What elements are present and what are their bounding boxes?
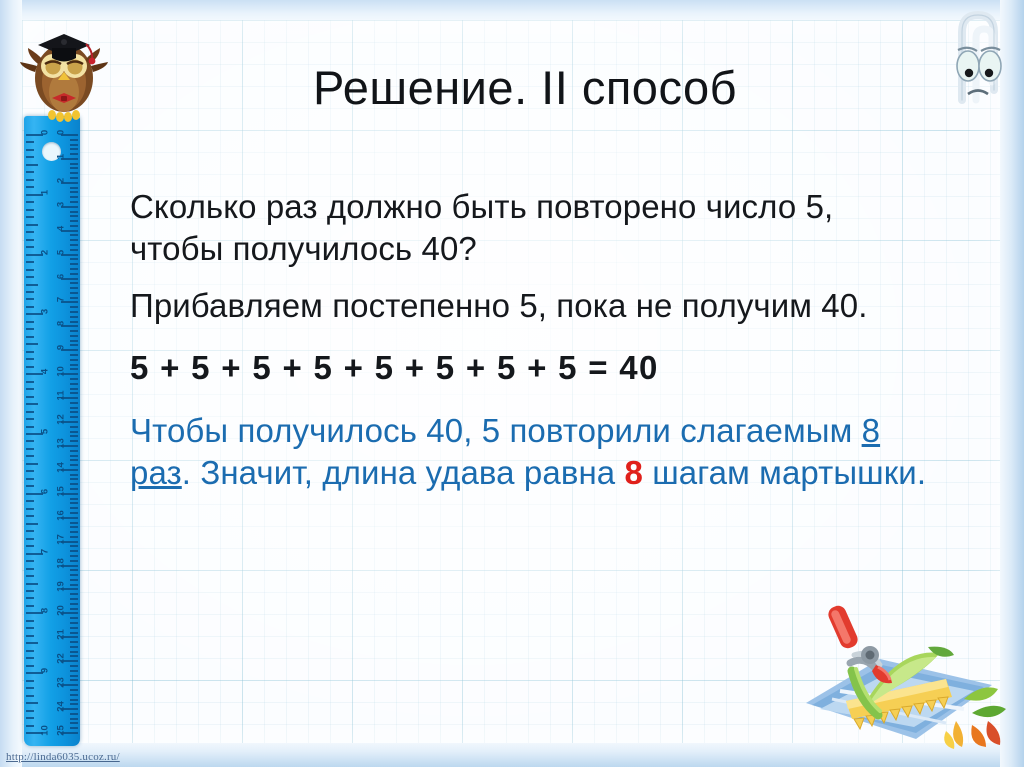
frame-edge-top: [0, 0, 1024, 22]
ruler-inch-subtick: [26, 440, 34, 442]
ruler-cm-subtick: [70, 263, 78, 265]
ruler-inch-label: 3: [40, 303, 51, 321]
ruler-inch-subtick: [26, 717, 34, 719]
ruler-cm-subtick: [70, 641, 78, 643]
ruler-inch-subtick: [26, 702, 38, 704]
ruler-inch-scale: 012345678910: [24, 116, 50, 746]
ruler-inch-subtick: [26, 179, 34, 181]
ruler-inch-subtick: [26, 381, 34, 383]
ruler-cm-subtick: [70, 172, 78, 174]
ruler-inch-subtick: [26, 418, 34, 420]
ruler-inch-subtick: [26, 620, 34, 622]
ruler-cm-subtick: [70, 584, 78, 586]
ruler-inch-subtick: [26, 321, 34, 323]
ruler-cm-subtick: [70, 536, 78, 538]
ruler-cm-subtick: [70, 368, 78, 370]
conclusion-lead: Чтобы получилось 40, 5 повторили слагаем…: [130, 412, 862, 449]
ruler-inch-subtick: [26, 523, 38, 525]
ruler-cm-subtick: [70, 273, 78, 275]
ruler-cm-subtick: [70, 502, 78, 504]
ruler-cm-label: 11: [56, 387, 67, 405]
ruler-inch-subtick: [26, 597, 34, 599]
conclusion-middle: . Значит, длина удава равна: [182, 454, 625, 491]
ruler-cm-subtick: [70, 531, 78, 533]
ruler-inch-subtick: [26, 725, 34, 727]
ruler-cm-label: 6: [56, 267, 67, 285]
ruler-cm-subtick: [70, 225, 78, 227]
ruler-cm-subtick: [70, 431, 78, 433]
ruler-inch-subtick: [26, 680, 34, 682]
ruler-cm-subtick: [70, 282, 78, 284]
ruler-inch-subtick: [26, 687, 34, 689]
ruler-cm-label: 8: [56, 315, 67, 333]
ruler-inch-label: 5: [40, 423, 51, 441]
ruler-cm-label: 10: [56, 363, 67, 381]
ruler-cm-subtick: [70, 211, 78, 213]
ruler-inch-subtick: [26, 231, 34, 233]
ruler-cm-label: 0: [56, 124, 67, 142]
ruler-cm-subtick: [70, 144, 78, 146]
ruler-inch-subtick: [26, 358, 34, 360]
ruler-inch-subtick: [26, 149, 34, 151]
ruler-cm-subtick: [70, 148, 78, 150]
ruler-inch-subtick: [26, 695, 34, 697]
ruler-cm-label: 1: [56, 147, 67, 165]
ruler-cm-subtick: [70, 306, 78, 308]
ruler-cm-subtick: [70, 316, 78, 318]
ruler-inch-subtick: [26, 171, 34, 173]
ruler-cm-subtick: [70, 632, 78, 634]
ruler-cm-subtick: [70, 483, 78, 485]
ruler-cm-subtick: [70, 196, 78, 198]
ruler-cm-subtick: [70, 426, 78, 428]
ruler-cm-subtick: [70, 603, 78, 605]
ruler-inch-subtick: [26, 141, 34, 143]
ruler-cm-subtick: [70, 699, 78, 701]
ruler-inch-subtick: [26, 508, 34, 510]
ruler-cm-subtick: [70, 512, 78, 514]
ruler-cm-subtick: [70, 450, 78, 452]
ruler-cm-subtick: [70, 392, 78, 394]
ruler-cm-subtick: [70, 579, 78, 581]
ruler-cm-subtick: [70, 287, 78, 289]
ruler-cm-subtick: [70, 617, 78, 619]
ruler-inch-subtick: [26, 590, 34, 592]
ruler-inch-subtick: [26, 201, 34, 203]
body-text-block: Сколько раз должно быть повторено число …: [130, 186, 930, 509]
ruler-inch-subtick: [26, 583, 38, 585]
conclusion-tail: шагам мартышки.: [643, 454, 926, 491]
ruler-inch-subtick: [26, 575, 34, 577]
ruler-cm-subtick: [70, 191, 78, 193]
ruler-inch-subtick: [26, 665, 34, 667]
ruler-inch-subtick: [26, 216, 34, 218]
ruler-inch-subtick: [26, 426, 34, 428]
ruler-cm-subtick: [70, 550, 78, 552]
ruler-inch-label: 9: [40, 662, 51, 680]
ruler-cm-subtick: [70, 522, 78, 524]
ruler-cm-subtick: [70, 359, 78, 361]
ruler-cm-subtick: [70, 249, 78, 251]
paragraph-question: Сколько раз должно быть повторено число …: [130, 186, 930, 269]
ruler-cm-label: 4: [56, 219, 67, 237]
ruler-inch-subtick: [26, 463, 38, 465]
ruler-cm-subtick: [70, 718, 78, 720]
ruler-cm-subtick: [70, 651, 78, 653]
ruler-cm-subtick: [70, 388, 78, 390]
ruler-cm-subtick: [70, 292, 78, 294]
ruler-cm-subtick: [70, 655, 78, 657]
ruler-inch-subtick: [26, 411, 34, 413]
ruler-illustration: 012345678910 012345678910111213141516171…: [24, 116, 80, 746]
ruler-cm-subtick: [70, 416, 78, 418]
ruler-cm-subtick: [70, 646, 78, 648]
ruler-cm-subtick: [70, 574, 78, 576]
ruler-cm-subtick: [70, 344, 78, 346]
ruler-cm-label: 24: [56, 698, 67, 716]
slide-canvas: Решение. II способ Сколько раз должно бы…: [0, 0, 1024, 767]
ruler-cm-subtick: [70, 335, 78, 337]
ruler-inch-subtick: [26, 351, 34, 353]
ruler-inch-subtick: [26, 448, 34, 450]
ruler-cm-subtick: [70, 703, 78, 705]
ruler-cm-subtick: [70, 177, 78, 179]
ruler-cm-subtick: [70, 455, 78, 457]
ruler-cm-subtick: [70, 220, 78, 222]
ruler-cm-subtick: [70, 215, 78, 217]
ruler-cm-subtick: [70, 321, 78, 323]
ruler-inch-subtick: [26, 657, 34, 659]
ruler-inch-subtick: [26, 650, 34, 652]
ruler-cm-subtick: [70, 340, 78, 342]
ruler-inch-label: 8: [40, 602, 51, 620]
ruler-inch-subtick: [26, 336, 34, 338]
ruler-inch-subtick: [26, 627, 34, 629]
ruler-inch-subtick: [26, 276, 34, 278]
ruler-cm-label: 21: [56, 626, 67, 644]
ruler-cm-subtick: [70, 727, 78, 729]
ruler-inch-subtick: [26, 515, 34, 517]
conclusion-highlight-number: 8: [625, 454, 643, 491]
paperclip-character-icon: [932, 4, 1016, 108]
ruler-inch-subtick: [26, 291, 34, 293]
ruler-inch-label: 4: [40, 363, 51, 381]
ruler-inch-subtick: [26, 500, 34, 502]
ruler-cm-subtick: [70, 378, 78, 380]
ruler-cm-label: 5: [56, 243, 67, 261]
ruler-inch-label: 7: [40, 542, 51, 560]
ruler-cm-subtick: [70, 153, 78, 155]
ruler-cm-label: 23: [56, 674, 67, 692]
ruler-cm-label: 14: [56, 458, 67, 476]
ruler-cm-subtick: [70, 713, 78, 715]
ruler-cm-subtick: [70, 545, 78, 547]
ruler-cm-subtick: [70, 364, 78, 366]
ruler-cm-subtick: [70, 297, 78, 299]
ruler-cm-subtick: [70, 268, 78, 270]
ruler-inch-label: 0: [40, 124, 51, 142]
ruler-inch-subtick: [26, 455, 34, 457]
ruler-inch-subtick: [26, 396, 34, 398]
ruler-cm-subtick: [70, 488, 78, 490]
ruler-inch-subtick: [26, 343, 38, 345]
ruler-inch-subtick: [26, 545, 34, 547]
ruler-cm-subtick: [70, 507, 78, 509]
ruler-inch-subtick: [26, 328, 34, 330]
ruler-inch-label: 2: [40, 243, 51, 261]
ruler-inch-subtick: [26, 470, 34, 472]
ruler-cm-subtick: [70, 689, 78, 691]
ruler-cm-label: 13: [56, 434, 67, 452]
ruler-cm-subtick: [70, 593, 78, 595]
equation-line: 5 + 5 + 5 + 5 + 5 + 5 + 5 + 5 = 40: [130, 347, 930, 389]
ruler-cm-subtick: [70, 627, 78, 629]
ruler-inch-subtick: [26, 366, 34, 368]
ruler-cm-label: 25: [56, 722, 67, 740]
ruler-cm-subtick: [70, 679, 78, 681]
ruler-cm-subtick: [70, 411, 78, 413]
ruler-cm-subtick: [70, 464, 78, 466]
ruler-cm-subtick: [70, 258, 78, 260]
ruler-cm-subtick: [70, 665, 78, 667]
ruler-cm-subtick: [70, 187, 78, 189]
ruler-cm-label: 20: [56, 602, 67, 620]
ruler-cm-label: 3: [56, 195, 67, 213]
ruler-cm-subtick: [70, 435, 78, 437]
ruler-inch-subtick: [26, 538, 34, 540]
ruler-cm-subtick: [70, 407, 78, 409]
ruler-cm-subtick: [70, 311, 78, 313]
page-title: Решение. II способ: [130, 60, 920, 115]
ruler-cm-label: 22: [56, 650, 67, 668]
ruler-cm-subtick: [70, 354, 78, 356]
ruler-cm-label: 15: [56, 482, 67, 500]
ruler-cm-subtick: [70, 474, 78, 476]
ruler-cm-label: 7: [56, 291, 67, 309]
ruler-inch-subtick: [26, 478, 34, 480]
ruler-inch-subtick: [26, 530, 34, 532]
ruler-inch-subtick: [26, 560, 34, 562]
ruler-inch-subtick: [26, 568, 34, 570]
ruler-cm-subtick: [70, 622, 78, 624]
ruler-cm-subtick: [70, 239, 78, 241]
owl-graduate-icon: [16, 12, 112, 124]
ruler-cm-label: 19: [56, 578, 67, 596]
ruler-cm-subtick: [70, 459, 78, 461]
source-watermark: http://linda6035.ucoz.ru/: [6, 751, 120, 763]
ruler-cm-subtick: [70, 383, 78, 385]
ruler-inch-subtick: [26, 164, 38, 166]
ruler-cm-subtick: [70, 608, 78, 610]
ruler-inch-label: 6: [40, 482, 51, 500]
ruler-cm-subtick: [70, 598, 78, 600]
ruler-cm-subtick: [70, 234, 78, 236]
ruler-inch-subtick: [26, 261, 34, 263]
ruler-cm-subtick: [70, 675, 78, 677]
garden-tools-illustration: [796, 593, 1018, 753]
ruler-cm-subtick: [70, 201, 78, 203]
ruler-cm-scale: 0123456789101112131415161718192021222324…: [54, 116, 80, 746]
ruler-cm-subtick: [70, 478, 78, 480]
ruler-cm-subtick: [70, 330, 78, 332]
ruler-inch-subtick: [26, 605, 34, 607]
ruler-inch-subtick: [26, 485, 34, 487]
ruler-inch-subtick: [26, 298, 34, 300]
ruler-inch-subtick: [26, 635, 34, 637]
ruler-inch-subtick: [26, 388, 34, 390]
ruler-inch-subtick: [26, 209, 34, 211]
ruler-cm-subtick: [70, 569, 78, 571]
ruler-cm-label: 12: [56, 411, 67, 429]
ruler-cm-label: 2: [56, 171, 67, 189]
ruler-cm-subtick: [70, 555, 78, 557]
ruler-inch-subtick: [26, 224, 38, 226]
ruler-inch-subtick: [26, 306, 34, 308]
ruler-inch-subtick: [26, 156, 34, 158]
ruler-cm-subtick: [70, 440, 78, 442]
ruler-cm-subtick: [70, 167, 78, 169]
ruler-cm-subtick: [70, 722, 78, 724]
ruler-cm-subtick: [70, 526, 78, 528]
ruler-cm-label: 18: [56, 554, 67, 572]
ruler-cm-subtick: [70, 670, 78, 672]
paragraph-conclusion: Чтобы получилось 40, 5 повторили слагаем…: [130, 410, 930, 493]
ruler-cm-label: 16: [56, 506, 67, 524]
ruler-cm-label: 17: [56, 530, 67, 548]
ruler-cm-subtick: [70, 139, 78, 141]
ruler-cm-subtick: [70, 560, 78, 562]
ruler-inch-subtick: [26, 403, 38, 405]
ruler-cm-subtick: [70, 498, 78, 500]
ruler-inch-subtick: [26, 642, 38, 644]
ruler-inch-subtick: [26, 239, 34, 241]
ruler-cm-label: 9: [56, 339, 67, 357]
ruler-inch-subtick: [26, 269, 34, 271]
ruler-cm-subtick: [70, 163, 78, 165]
ruler-cm-subtick: [70, 402, 78, 404]
ruler-inch-label: 10: [40, 722, 51, 740]
ruler-inch-label: 1: [40, 183, 51, 201]
ruler-inch-subtick: [26, 284, 38, 286]
paragraph-method: Прибавляем постепенно 5, пока не получим…: [130, 285, 930, 327]
ruler-inch-subtick: [26, 186, 34, 188]
ruler-inch-subtick: [26, 246, 34, 248]
ruler-cm-subtick: [70, 694, 78, 696]
ruler-inch-subtick: [26, 710, 34, 712]
ruler-cm-subtick: [70, 244, 78, 246]
